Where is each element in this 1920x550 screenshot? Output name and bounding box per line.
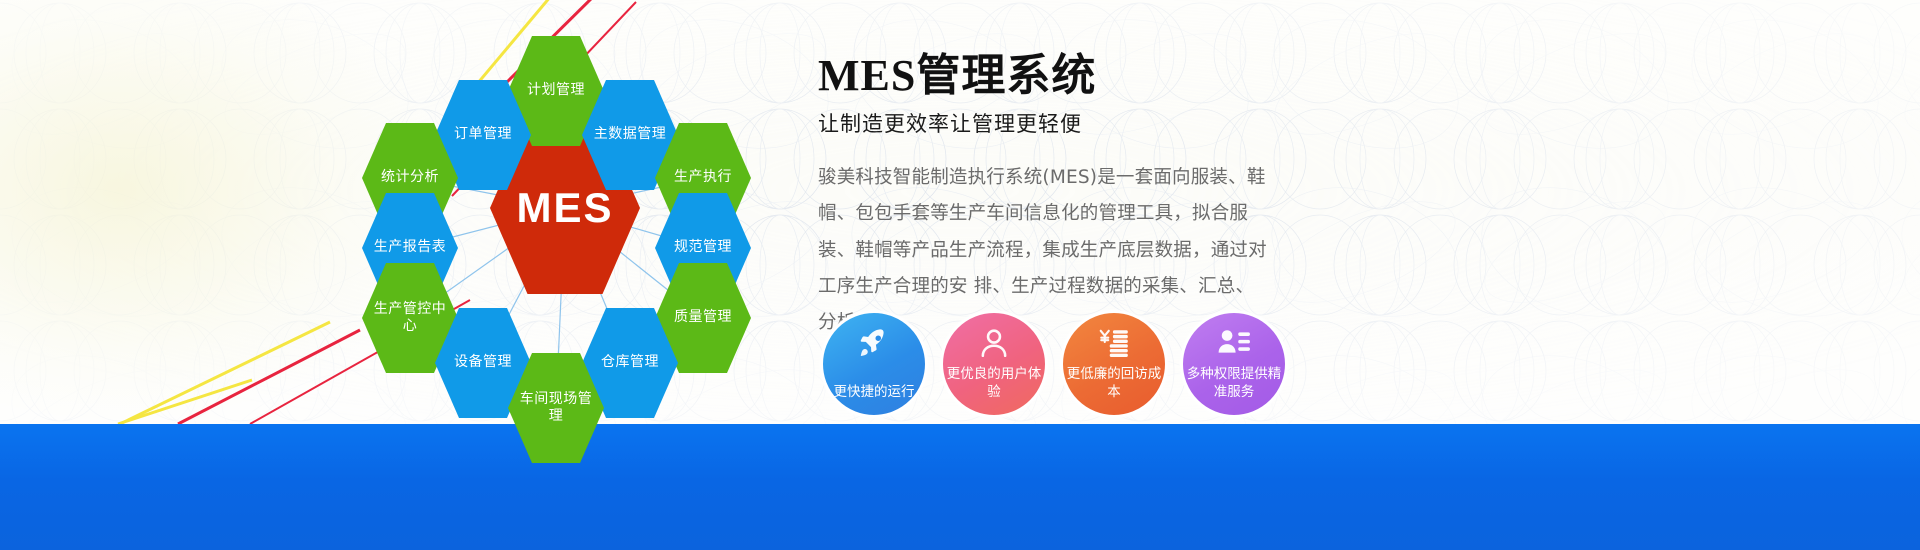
hex-label: 生产管控中心 bbox=[362, 301, 458, 336]
user-icon bbox=[977, 326, 1011, 360]
hex-label: 设备管理 bbox=[448, 354, 518, 372]
hex-label: 生产报告表 bbox=[368, 239, 453, 257]
page-title: MES管理系统 bbox=[818, 52, 1418, 100]
hex-label: 计划管理 bbox=[521, 82, 591, 100]
permissions-icon bbox=[1217, 326, 1251, 360]
feature-better-user-experience[interactable]: 更优良的用户体验 bbox=[940, 310, 1048, 418]
hex-label: 仓库管理 bbox=[595, 354, 665, 372]
feature-label: 更低廉的回访成本 bbox=[1062, 365, 1166, 401]
feature-multiple-permissions[interactable]: 多种权限提供精准服务 bbox=[1180, 310, 1288, 418]
hex-label: 车间现场管理 bbox=[508, 391, 604, 426]
coins-icon bbox=[1097, 326, 1131, 360]
hex-label: 规范管理 bbox=[668, 239, 738, 257]
hex-label: 生产执行 bbox=[668, 169, 738, 187]
feature-circles: 更快捷的运行 更优良的用户体验 bbox=[820, 310, 1380, 430]
content-column: MES管理系统 让制造更效率让管理更轻便 骏美科技智能制造执行系统(MES)是一… bbox=[818, 52, 1418, 341]
mes-hexagon-diagram: MES 计划管理 订单管理 主数据管理 统计分析 生产执行 生产报告表 规范管理… bbox=[330, 18, 800, 438]
feature-label: 更快捷的运行 bbox=[822, 383, 926, 401]
rocket-icon bbox=[857, 326, 891, 360]
mes-banner: MES 计划管理 订单管理 主数据管理 统计分析 生产执行 生产报告表 规范管理… bbox=[0, 0, 1920, 550]
feature-faster-operation[interactable]: 更快捷的运行 bbox=[820, 310, 928, 418]
page-subtitle: 让制造更效率让管理更轻便 bbox=[818, 108, 1418, 138]
hex-label: 订单管理 bbox=[448, 126, 518, 144]
feature-label: 更优良的用户体验 bbox=[942, 365, 1046, 401]
hex-label: 统计分析 bbox=[375, 169, 445, 187]
hex-label: 质量管理 bbox=[668, 309, 738, 327]
hex-label: 主数据管理 bbox=[588, 126, 673, 144]
feature-lower-revisit-cost[interactable]: 更低廉的回访成本 bbox=[1060, 310, 1168, 418]
feature-label: 多种权限提供精准服务 bbox=[1182, 365, 1286, 401]
hex-center-label: MES bbox=[510, 182, 619, 235]
background-blue-band bbox=[0, 424, 1920, 550]
